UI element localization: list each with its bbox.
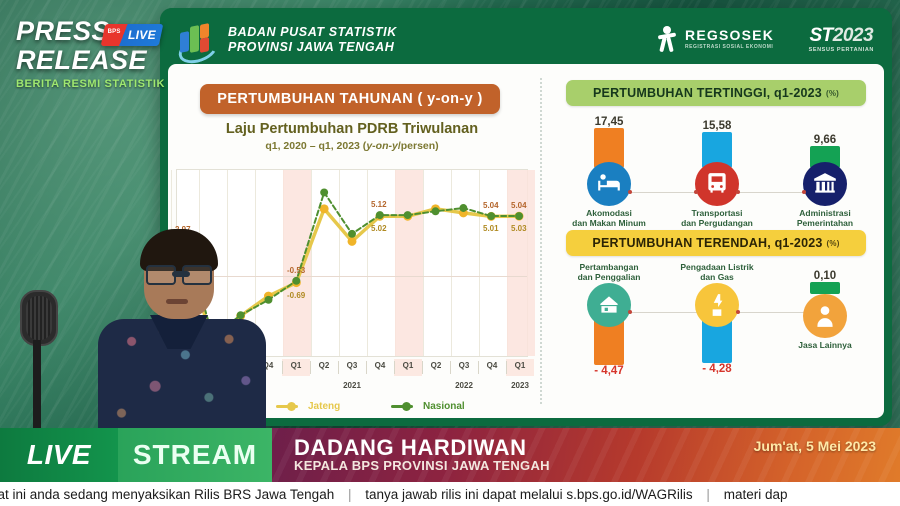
live-banner-segment: LIVE	[0, 428, 118, 482]
live-chip-label: LIVE	[128, 28, 156, 42]
data-point	[348, 237, 357, 246]
connector-dot	[736, 190, 740, 194]
mining-icon	[596, 292, 622, 318]
bps-logo-icon	[180, 24, 216, 56]
x-axis-year-tick: 2023	[500, 381, 540, 390]
lowest-growth-item: Pengadaan Listrikdan Gas- 4,28	[664, 260, 770, 375]
speaker-title: KEPALA BPS PROVINSI JAWA TENGAH	[294, 459, 900, 473]
st2023-title: ST2023	[809, 26, 874, 45]
slide-header: BADAN PUSAT STATISTIK PROVINSI JAWA TENG…	[160, 8, 892, 70]
press-release-badge: PRESS RELEASE BERITA RESMI STATISTIK BPS…	[16, 18, 166, 98]
chart-title-block: Laju Pertumbuhan PDRB Triwulanan q1, 202…	[168, 121, 536, 152]
chart-subheading-em: y-on-y	[366, 140, 398, 152]
data-point	[515, 212, 523, 220]
highest-growth-label: PERTUMBUHAN TERTINGGI, q1-2023	[593, 86, 822, 100]
data-label: 5.12	[371, 200, 387, 209]
connector-dot	[628, 190, 632, 194]
panel-divider	[540, 78, 542, 404]
caption-line1: Pertambangan	[556, 262, 662, 272]
legend-label: Nasional	[423, 401, 465, 412]
st2023-logo: ST2023 SENSUS PERTANIAN	[809, 26, 874, 53]
lowest-growth-caption: Jasa Lainnya	[772, 340, 878, 350]
live-banner-label: LIVE	[27, 439, 91, 471]
legend-item-jateng: Jateng	[276, 401, 340, 412]
regsosek-person-icon	[656, 26, 678, 52]
lowest-growth-item: Pertambangandan Penggalian- 4,47	[556, 260, 662, 377]
data-label: 5.03	[511, 224, 527, 233]
x-axis-quarter-tick: Q2	[311, 361, 337, 370]
lowest-growth-value: 0,10	[772, 270, 878, 282]
data-label: 5.01	[483, 224, 499, 233]
data-label: 5.04	[511, 201, 527, 210]
data-point	[404, 211, 412, 219]
legend-dot	[287, 402, 296, 411]
bps-org-line1: BADAN PUSAT STATISTIK	[228, 25, 397, 40]
st2023-year: 2023	[833, 25, 873, 46]
x-axis-separator	[422, 361, 423, 374]
caption-line2: dan Pergudangan	[664, 218, 770, 228]
highest-growth-value: 15,58	[664, 120, 770, 132]
microphone-icon	[14, 290, 60, 430]
connector-dot	[628, 310, 632, 314]
data-point	[459, 204, 467, 212]
st2023-prefix: ST	[810, 25, 833, 46]
connector-dot	[694, 190, 698, 194]
lowest-growth-items: Pertambangandan Penggalian- 4,47Pengadaa…	[552, 260, 882, 380]
highest-growth-value: 9,66	[772, 134, 878, 146]
chart-subheading-post: /persen)	[398, 140, 439, 152]
data-label: -0.69	[287, 291, 305, 300]
highest-growth-caption: Transportasidan Pergudangan	[664, 208, 770, 229]
caption-line1: Pengadaan Listrik	[664, 262, 770, 272]
data-point	[376, 211, 384, 219]
st2023-subtitle: SENSUS PERTANIAN	[809, 47, 874, 53]
legend-label: Jateng	[308, 401, 340, 412]
press-release-subtitle: BERITA RESMI STATISTIK	[16, 78, 166, 90]
data-point	[348, 230, 356, 238]
caption-line1: Jasa Lainnya	[772, 340, 878, 350]
lowest-growth-label: PERTUMBUHAN TERENDAH, q1-2023	[592, 236, 822, 250]
x-axis-quarter-tick: Q3	[451, 361, 477, 370]
lowest-growth-pill: PERTUMBUHAN TERENDAH, q1-2023 (%)	[566, 230, 866, 256]
highest-growth-icon-circle	[587, 162, 631, 206]
speaker-name-banner: DADANG HARDIWAN KEPALA BPS PROVINSI JAWA…	[272, 428, 900, 482]
broadcast-stage: PRESS RELEASE BERITA RESMI STATISTIK BPS…	[0, 0, 900, 506]
government-building-icon	[812, 171, 838, 197]
highest-growth-item: 9,66AdministrasiPemerintahan	[772, 112, 878, 229]
data-point	[292, 277, 300, 285]
x-axis-quarter-tick: Q3	[339, 361, 365, 370]
data-point	[320, 204, 329, 213]
growth-summary-panel: PERTUMBUHAN TERTINGGI, q1-2023 (%) 17,45…	[546, 64, 884, 418]
data-label: 5.04	[483, 201, 499, 210]
x-axis-quarter-tick: Q1	[283, 361, 309, 370]
lowest-growth-unit: (%)	[827, 239, 840, 248]
stream-banner-label: STREAM	[133, 439, 257, 471]
data-point	[320, 188, 328, 196]
speaker-presenter	[92, 215, 272, 430]
bed-icon	[596, 171, 622, 197]
lowest-growth-item: 0,10Jasa Lainnya	[772, 260, 878, 350]
highest-growth-caption: AdministrasiPemerintahan	[772, 208, 878, 229]
ticker-sep-1: |	[348, 487, 352, 502]
highest-growth-icon-circle	[695, 162, 739, 206]
x-axis-quarter-tick: Q2	[423, 361, 449, 370]
electricity-icon	[704, 292, 730, 318]
x-axis-quarter-tick: Q1	[395, 361, 421, 370]
news-ticker: aat ini anda sedang menyaksikan Rilis BR…	[0, 482, 900, 506]
ticker-text: aat ini anda sedang menyaksikan Rilis BR…	[0, 487, 788, 502]
lowest-growth-value: - 4,28	[664, 363, 770, 375]
caption-line1: Akomodasi	[556, 208, 662, 218]
x-axis-separator	[506, 361, 507, 374]
x-axis-separator	[310, 361, 311, 374]
stream-banner-segment: STREAM	[118, 428, 272, 482]
data-label: -0.53	[287, 266, 305, 275]
regsosek-subtitle: REGISTRASI SOSIAL EKONOMI	[685, 44, 774, 50]
lowest-growth-icon-circle	[587, 283, 631, 327]
glasses-icon	[146, 265, 212, 281]
x-axis-separator	[282, 361, 283, 374]
highest-growth-items: 17,45Akomodasidan Makan Minum15,58Transp…	[552, 112, 882, 224]
regsosek-title: REGSOSEK	[685, 28, 774, 42]
highest-growth-item: 17,45Akomodasidan Makan Minum	[556, 112, 662, 229]
lower-third-banner: LIVE STREAM DADANG HARDIWAN KEPALA BPS P…	[0, 428, 900, 482]
x-axis-quarter-tick: Q4	[479, 361, 505, 370]
highest-growth-icon-circle	[803, 162, 847, 206]
highest-growth-item: 15,58Transportasidan Pergudangan	[664, 112, 770, 229]
x-axis-quarter-tick: Q1	[507, 361, 533, 370]
caption-line2: dan Penggalian	[556, 272, 662, 282]
x-axis-separator	[478, 361, 479, 374]
caption-line1: Transportasi	[664, 208, 770, 218]
highest-growth-unit: (%)	[826, 89, 839, 98]
caption-line2: dan Gas	[664, 272, 770, 282]
lowest-growth-value: - 4,47	[556, 365, 662, 377]
highest-growth-pill: PERTUMBUHAN TERTINGGI, q1-2023 (%)	[566, 80, 866, 106]
bps-org-text: BADAN PUSAT STATISTIK PROVINSI JAWA TENG…	[228, 25, 397, 56]
yoy-title-pill: PERTUMBUHAN TAHUNAN ( y-on-y )	[200, 84, 500, 114]
services-person-icon	[812, 303, 838, 329]
lowest-growth-icon-circle	[803, 294, 847, 338]
caption-line1: Administrasi	[772, 208, 878, 218]
data-point	[487, 212, 495, 220]
connector-dot	[736, 310, 740, 314]
highest-growth-caption: Akomodasidan Makan Minum	[556, 208, 662, 229]
chart-subheading: q1, 2020 – q1, 2023 (y-on-y/persen)	[168, 140, 536, 152]
lowest-growth-caption: Pengadaan Listrikdan Gas	[664, 262, 770, 283]
speaker-mouth	[166, 299, 188, 304]
data-label: 5.02	[371, 224, 387, 233]
legend-item-nasional: Nasional	[391, 401, 465, 412]
lowest-growth-icon-circle	[695, 283, 739, 327]
lowest-growth-caption: Pertambangandan Penggalian	[556, 262, 662, 283]
live-chip: BPS LIVE	[101, 24, 164, 46]
lowest-growth-bar	[810, 282, 840, 294]
caption-line2: Pemerintahan	[772, 218, 878, 228]
chart-subheading-pre: q1, 2020 – q1, 2023 (	[265, 140, 366, 152]
ticker-sep-2: |	[706, 487, 710, 502]
press-release-line2: RELEASE	[16, 47, 166, 74]
broadcast-date: Jum'at, 5 Mei 2023	[754, 438, 876, 454]
legend-dot	[402, 402, 411, 411]
chart-heading: Laju Pertumbuhan PDRB Triwulanan	[168, 121, 536, 137]
highest-growth-value: 17,45	[556, 116, 662, 128]
slide-body: PERTUMBUHAN TAHUNAN ( y-on-y ) Laju Pert…	[168, 64, 884, 418]
ticker-part3: materi dap	[724, 487, 788, 502]
x-axis-separator	[366, 361, 367, 374]
x-axis-quarter-tick: Q4	[367, 361, 393, 370]
data-point	[432, 207, 440, 215]
bps-org-line2: PROVINSI JAWA TENGAH	[228, 40, 397, 55]
caption-line2: dan Makan Minum	[556, 218, 662, 228]
x-axis-year-tick: 2021	[332, 381, 372, 390]
connector-dot	[802, 190, 806, 194]
live-chip-small-label: BPS	[108, 29, 121, 35]
ticker-part1: aat ini anda sedang menyaksikan Rilis BR…	[0, 487, 334, 502]
x-axis-separator	[450, 361, 451, 374]
x-axis-separator	[394, 361, 395, 374]
bus-icon	[704, 171, 730, 197]
x-axis-year-tick: 2022	[444, 381, 484, 390]
regsosek-logo: REGSOSEK REGISTRASI SOSIAL EKONOMI	[656, 26, 774, 52]
ticker-part2: tanya jawab rilis ini dapat melalui s.bp…	[365, 487, 692, 502]
x-axis-separator	[338, 361, 339, 374]
yoy-title-label: PERTUMBUHAN TAHUNAN ( y-on-y )	[217, 91, 482, 107]
